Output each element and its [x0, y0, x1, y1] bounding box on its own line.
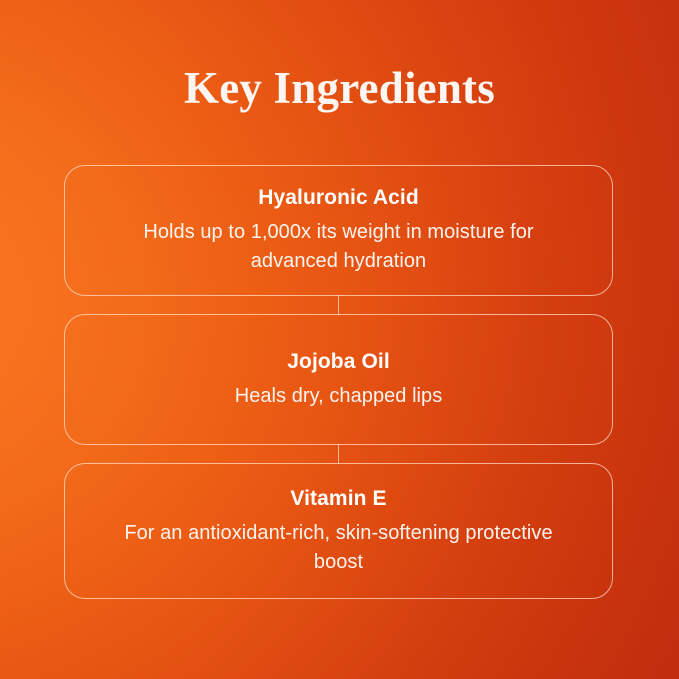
ingredient-card-list: Hyaluronic Acid Holds up to 1,000x its w… — [64, 165, 613, 599]
ingredient-description: For an antioxidant-rich, skin-softening … — [124, 519, 554, 577]
connector-line — [338, 444, 339, 464]
ingredient-description: Holds up to 1,000x its weight in moistur… — [124, 218, 554, 276]
ingredient-card: Vitamin E For an antioxidant-rich, skin-… — [64, 463, 613, 599]
ingredient-card: Jojoba Oil Heals dry, chapped lips — [64, 314, 613, 445]
card-connector — [64, 296, 613, 314]
ingredient-card: Hyaluronic Acid Holds up to 1,000x its w… — [64, 165, 613, 296]
ingredient-name: Vitamin E — [290, 486, 386, 512]
connector-line — [338, 295, 339, 315]
poster-content: Key Ingredients Hyaluronic Acid Holds up… — [0, 0, 679, 679]
ingredient-name: Jojoba Oil — [287, 349, 390, 375]
page-title: Key Ingredients — [0, 62, 679, 114]
card-connector — [64, 445, 613, 463]
ingredients-poster: Key Ingredients Hyaluronic Acid Holds up… — [0, 0, 679, 679]
ingredient-description: Heals dry, chapped lips — [235, 382, 443, 411]
ingredient-name: Hyaluronic Acid — [258, 185, 419, 211]
